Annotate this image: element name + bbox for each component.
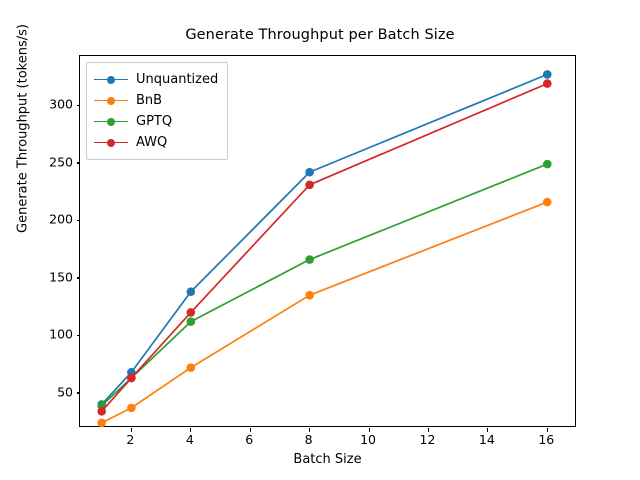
x-tick-mark bbox=[309, 428, 310, 432]
data-point bbox=[187, 308, 196, 317]
legend-marker-icon bbox=[94, 115, 128, 129]
series-line bbox=[102, 202, 548, 423]
legend-item-unquantized[interactable]: Unquantized bbox=[94, 69, 218, 90]
chart-figure: Generate Throughput per Batch Size Gener… bbox=[0, 0, 640, 480]
x-axis-label: Batch Size bbox=[79, 452, 576, 467]
legend-marker-icon bbox=[94, 94, 128, 108]
x-tick-mark bbox=[369, 428, 370, 432]
x-tick-label: 8 bbox=[289, 432, 329, 447]
x-tick-label: 10 bbox=[348, 432, 388, 447]
x-tick-label: 16 bbox=[526, 432, 566, 447]
series-gptq bbox=[97, 160, 551, 410]
y-tick-label: 100 bbox=[33, 327, 73, 342]
data-point bbox=[543, 79, 552, 88]
y-tick-mark bbox=[77, 277, 81, 278]
y-tick-mark bbox=[77, 335, 81, 336]
series-line bbox=[102, 164, 548, 405]
y-tick-mark bbox=[77, 392, 81, 393]
x-tick-mark bbox=[547, 428, 548, 432]
legend-marker-icon bbox=[94, 136, 128, 150]
y-tick-label: 50 bbox=[33, 384, 73, 399]
data-point bbox=[187, 317, 196, 326]
data-point bbox=[305, 291, 314, 300]
data-point bbox=[543, 160, 552, 169]
legend-label: BnB bbox=[136, 93, 162, 108]
data-point bbox=[305, 180, 314, 189]
x-tick-label: 14 bbox=[467, 432, 507, 447]
y-tick-mark bbox=[77, 105, 81, 106]
legend-item-awq[interactable]: AWQ bbox=[94, 132, 218, 153]
legend-label: GPTQ bbox=[136, 114, 172, 129]
data-point bbox=[97, 419, 106, 428]
data-point bbox=[97, 407, 106, 416]
y-tick-label: 200 bbox=[33, 212, 73, 227]
chart-title: Generate Throughput per Batch Size bbox=[0, 27, 640, 43]
x-tick-label: 12 bbox=[407, 432, 447, 447]
x-tick-mark bbox=[131, 428, 132, 432]
x-axis-tick-labels: 246810121416 bbox=[79, 432, 576, 452]
series-bnb bbox=[97, 198, 551, 427]
legend-marker-icon bbox=[94, 73, 128, 87]
x-tick-label: 2 bbox=[110, 432, 150, 447]
y-tick-label: 150 bbox=[33, 269, 73, 284]
x-tick-mark bbox=[190, 428, 191, 432]
y-axis-tick-labels: 50100150200250300 bbox=[26, 55, 73, 427]
y-tick-mark bbox=[77, 220, 81, 221]
y-tick-mark bbox=[77, 162, 81, 163]
legend-item-bnb[interactable]: BnB bbox=[94, 90, 218, 111]
x-tick-label: 4 bbox=[170, 432, 210, 447]
legend-label: AWQ bbox=[136, 135, 167, 150]
y-tick-label: 250 bbox=[33, 154, 73, 169]
x-tick-mark bbox=[428, 428, 429, 432]
data-point bbox=[187, 287, 196, 296]
data-point bbox=[305, 168, 314, 177]
chart-legend: UnquantizedBnBGPTQAWQ bbox=[86, 62, 228, 160]
y-tick-label: 300 bbox=[33, 97, 73, 112]
x-tick-mark bbox=[250, 428, 251, 432]
legend-label: Unquantized bbox=[136, 72, 218, 87]
x-tick-label: 6 bbox=[229, 432, 269, 447]
data-point bbox=[543, 70, 552, 79]
data-point bbox=[127, 404, 136, 413]
data-point bbox=[543, 198, 552, 207]
data-point bbox=[305, 255, 314, 264]
legend-item-gptq[interactable]: GPTQ bbox=[94, 111, 218, 132]
x-tick-mark bbox=[487, 428, 488, 432]
data-point bbox=[127, 374, 136, 383]
data-point bbox=[187, 363, 196, 372]
